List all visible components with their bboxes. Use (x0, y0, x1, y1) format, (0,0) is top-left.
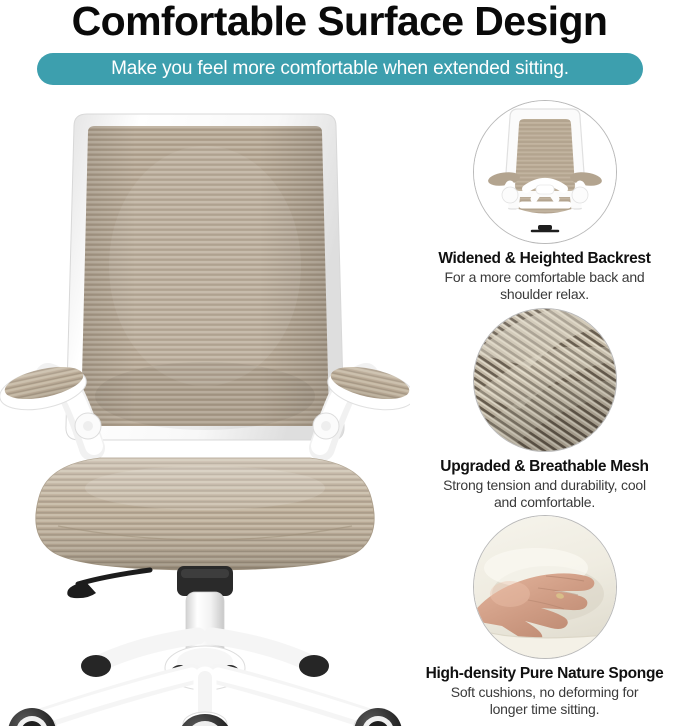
feature-subtitle-line2: shoulder relax. (500, 286, 589, 302)
feature-subtitle-line1: Soft cushions, no deforming for (451, 684, 639, 700)
page-title: Comfortable Surface Design (0, 0, 679, 44)
feature-subtitle-line2: and comfortable. (494, 494, 595, 510)
product-infographic: Comfortable Surface Design Make you feel… (0, 0, 679, 726)
feature-subtitle: For a more comfortable back and shoulder… (410, 269, 679, 303)
chair-backrest-rear-view-icon (473, 100, 617, 244)
feature-title: High-density Pure Nature Sponge (410, 665, 679, 683)
feature-subtitle-line1: For a more comfortable back and (444, 269, 644, 285)
feature-subtitle: Strong tension and durability, cool and … (410, 477, 679, 511)
feature-item-sponge: High-density Pure Nature Sponge Soft cus… (410, 515, 679, 718)
feature-title: Upgraded & Breathable Mesh (410, 458, 679, 476)
breathable-mesh-weave-closeup-icon (473, 308, 617, 452)
feature-item-backrest: Widened & Heighted Backrest For a more c… (410, 100, 679, 303)
feature-item-mesh: Upgraded & Breathable Mesh Strong tensio… (410, 308, 679, 511)
feature-subtitle: Soft cushions, no deforming for longer t… (410, 684, 679, 718)
feature-subtitle-line1: Strong tension and durability, cool (443, 477, 646, 493)
feature-subtitle-line2: longer time sitting. (490, 701, 600, 717)
feature-title: Widened & Heighted Backrest (410, 250, 679, 268)
hand-pressing-foam-sponge-icon (473, 515, 617, 659)
subtitle-banner: Make you feel more comfortable when exte… (37, 53, 643, 85)
feature-list: Widened & Heighted Backrest For a more c… (410, 100, 679, 726)
main-product-image (0, 96, 410, 726)
subtitle-text: Make you feel more comfortable when exte… (37, 53, 643, 85)
